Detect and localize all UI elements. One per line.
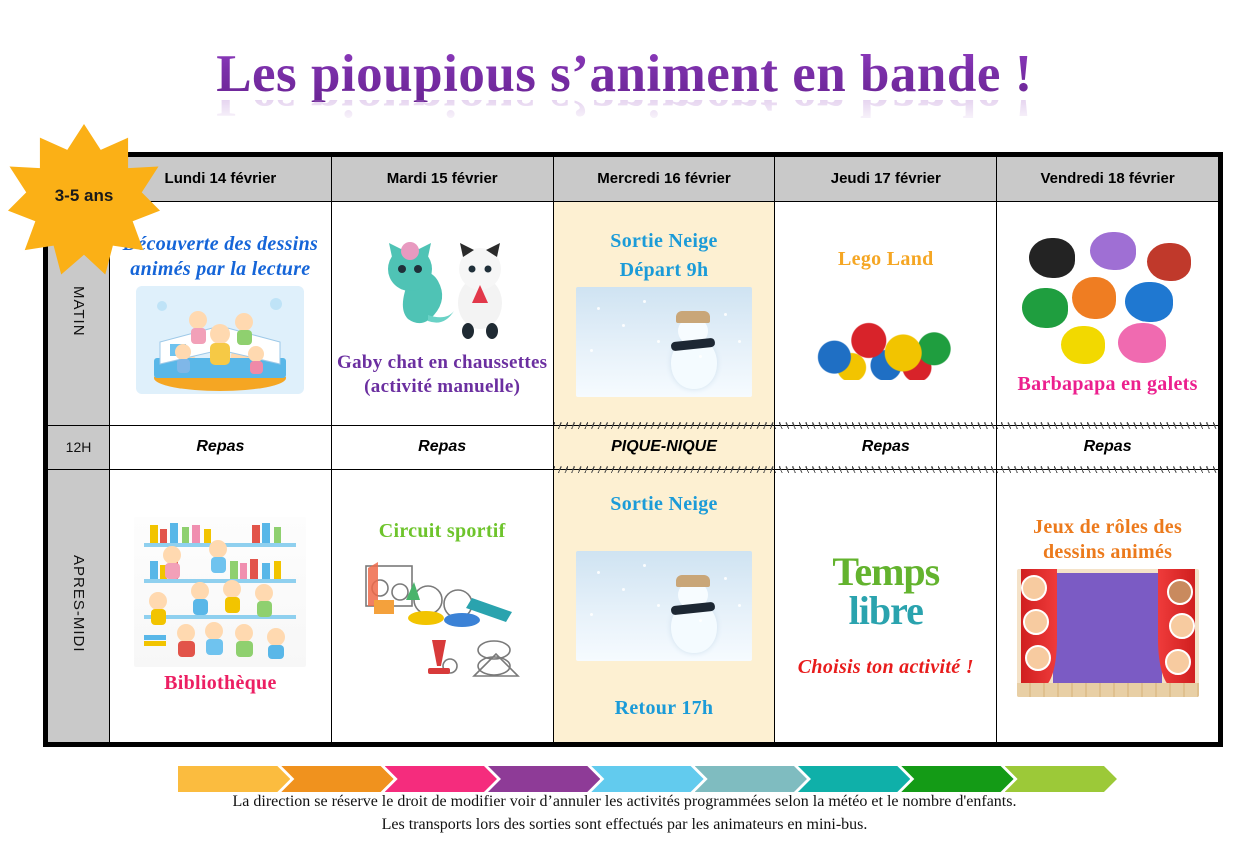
gabby-cat-plush-svg <box>356 227 528 347</box>
activity-title-afternoon-vendredi: Jeux de rôles des dessins animés <box>1001 515 1214 565</box>
table-row-lunch: 12H Repas Repas PIQUE-NIQUE Repas Repas <box>48 425 1219 470</box>
cell-lunch-mercredi[interactable]: PIQUE-NIQUE <box>553 425 775 470</box>
table-row-morning: MATIN Découverte des dessins animés par … <box>48 201 1219 425</box>
footer-line-1: La direction se réserve le droit de modi… <box>0 790 1249 813</box>
theatre-stage-children-icon <box>1017 569 1199 697</box>
age-group-badge-label: 3-5 ans <box>55 186 114 206</box>
gabby-cat-plush-icon <box>356 227 528 347</box>
cell-afternoon-mercredi[interactable]: Sortie Neige Retour 17h <box>553 470 775 743</box>
lunch-text-lundi: Repas <box>196 438 244 455</box>
cell-lunch-vendredi[interactable]: Repas <box>997 425 1219 470</box>
children-reading-book-svg <box>136 286 304 394</box>
row-label-matin-text: MATIN <box>70 286 87 337</box>
sports-circuit-svg <box>354 548 530 694</box>
page-title-text: Les pioupious s’animent en bande ! <box>0 46 1249 102</box>
header-day-jeudi: Jeudi 17 février <box>775 157 997 202</box>
cell-afternoon-mardi[interactable]: Circuit sportif <box>331 470 553 743</box>
row-label-apres-midi: APRES-MIDI <box>48 470 110 743</box>
arrow-segment-4 <box>488 766 600 792</box>
zigzag-divider-top <box>554 467 775 473</box>
library-children-books-icon <box>134 517 306 667</box>
cell-lunch-jeudi[interactable]: Repas <box>775 425 997 470</box>
cell-morning-mercredi[interactable]: Sortie Neige Départ 9h <box>553 201 775 425</box>
cell-morning-jeudi[interactable]: Lego Land <box>775 201 997 425</box>
footer-line-2: Les transports lors des sorties sont eff… <box>0 813 1249 836</box>
schedule-table-frame: Lundi 14 février Mardi 15 février Mercre… <box>43 152 1223 747</box>
cell-afternoon-lundi[interactable]: Bibliothèque <box>110 470 332 743</box>
cell-afternoon-vendredi[interactable]: Jeux de rôles des dessins animés <box>997 470 1219 743</box>
cell-lunch-lundi[interactable]: Repas <box>110 425 332 470</box>
lunch-text-mercredi: PIQUE-NIQUE <box>611 438 717 455</box>
snowman-winter-icon <box>576 287 752 397</box>
cell-lunch-mardi[interactable]: Repas <box>331 425 553 470</box>
zigzag-divider-top <box>775 467 996 473</box>
table-header-row: Lundi 14 février Mardi 15 février Mercre… <box>48 157 1219 202</box>
temps-libre-logo-line2: libre <box>849 591 923 631</box>
row-label-apres-midi-text: APRES-MIDI <box>70 555 87 653</box>
activity-title-afternoon-mardi: Circuit sportif <box>379 519 506 544</box>
header-day-mercredi: Mercredi 16 février <box>553 157 775 202</box>
arrow-segment-1 <box>178 766 290 792</box>
lego-bricks-pile-icon <box>800 276 972 380</box>
arrow-segment-2 <box>281 766 393 792</box>
zigzag-divider-top <box>997 423 1218 429</box>
zigzag-divider-top <box>554 423 775 429</box>
cell-morning-mardi[interactable]: Gaby chat en chaussettes (activité manue… <box>331 201 553 425</box>
lunch-text-vendredi: Repas <box>1084 438 1132 455</box>
activity-subtitle-morning-mercredi: Départ 9h <box>620 258 709 283</box>
page-title: Les pioupious s’animent en bande ! Les p… <box>0 46 1249 132</box>
painted-pebbles-icon <box>1019 230 1197 368</box>
zigzag-divider-top <box>997 467 1218 473</box>
cell-afternoon-jeudi[interactable]: Temps libre Choisis ton activité ! <box>775 470 997 743</box>
arrow-segment-6 <box>695 766 807 792</box>
activity-title-morning-jeudi: Lego Land <box>838 247 934 272</box>
decorative-arrow-bar <box>178 766 1108 792</box>
temps-libre-logo: Temps libre <box>796 533 976 651</box>
temps-libre-logo-line1: Temps <box>832 553 939 591</box>
arrow-segment-5 <box>591 766 703 792</box>
lunch-text-mardi: Repas <box>418 438 466 455</box>
zigzag-divider-top <box>775 423 996 429</box>
sports-circuit-icon <box>354 548 530 694</box>
lunch-text-jeudi: Repas <box>862 438 910 455</box>
footer-disclaimer: La direction se réserve le droit de modi… <box>0 790 1249 836</box>
table-row-afternoon: APRES-MIDI <box>48 470 1219 743</box>
activity-subtitle-afternoon-mercredi: Retour 17h <box>615 696 714 721</box>
arrow-segment-3 <box>385 766 497 792</box>
schedule-table: Lundi 14 février Mardi 15 février Mercre… <box>47 156 1219 743</box>
snowman-winter-icon <box>576 551 752 661</box>
children-reading-book-icon <box>136 286 304 394</box>
activity-title-morning-mercredi: Sortie Neige <box>610 229 717 254</box>
library-children-books-svg <box>134 517 306 667</box>
activity-title-morning-mardi: Gaby chat en chaussettes (activité manue… <box>336 351 549 399</box>
arrow-segment-7 <box>798 766 910 792</box>
cell-morning-vendredi[interactable]: Barbapapa en galets <box>997 201 1219 425</box>
activity-title-afternoon-lundi: Bibliothèque <box>164 671 277 696</box>
arrow-segment-8 <box>901 766 1013 792</box>
row-label-12h: 12H <box>48 425 110 470</box>
activity-title-morning-lundi: Découverte des dessins animés par la lec… <box>114 232 327 282</box>
header-day-mardi: Mardi 15 février <box>331 157 553 202</box>
arrow-segment-9 <box>1005 766 1117 792</box>
activity-title-morning-vendredi: Barbapapa en galets <box>1018 372 1198 397</box>
page-title-reflection: Les pioupious s’animent en bande ! <box>0 100 1249 126</box>
activity-title-afternoon-jeudi: Choisis ton activité ! <box>798 655 974 680</box>
header-day-vendredi: Vendredi 18 février <box>997 157 1219 202</box>
cell-morning-lundi[interactable]: Découverte des dessins animés par la lec… <box>110 201 332 425</box>
activity-title-afternoon-mercredi: Sortie Neige <box>610 492 717 517</box>
